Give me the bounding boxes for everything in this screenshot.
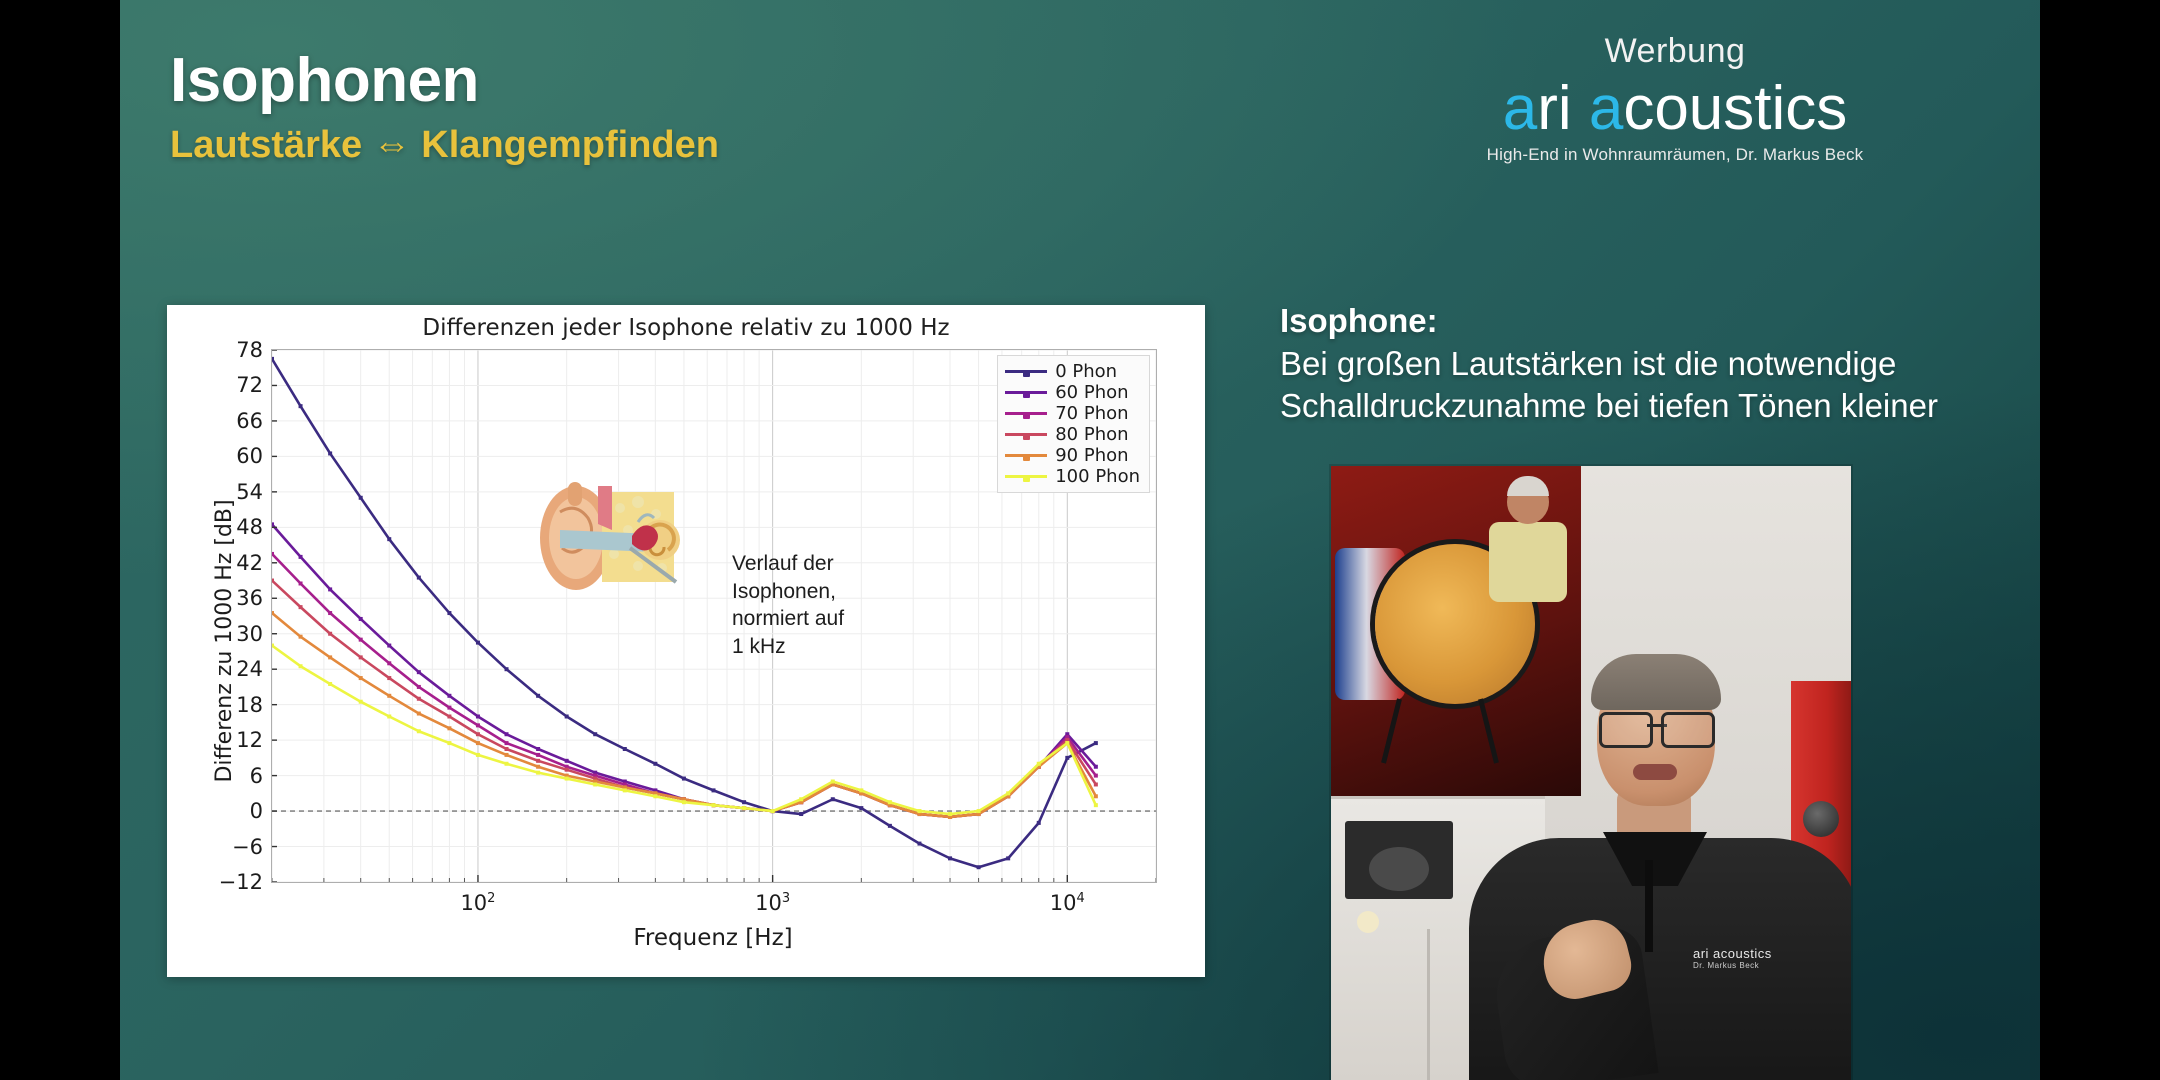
cabinet-seam bbox=[1427, 929, 1430, 1080]
chart-annotation: Verlauf derIsophonen,normiert auf1 kHz bbox=[732, 550, 844, 661]
chart-panel: Differenzen jeder Isophone relativ zu 10… bbox=[167, 305, 1205, 977]
drummer-body bbox=[1489, 522, 1567, 602]
presenter-hair bbox=[1591, 654, 1721, 710]
cabinet-speaker-panel bbox=[1345, 821, 1453, 899]
legend-item[interactable]: 0 Phon bbox=[1005, 361, 1140, 382]
chart-y-tick: 42 bbox=[236, 551, 263, 575]
brand-block: Werbung ari acoustics High-End in Wohnra… bbox=[1440, 32, 1910, 165]
logo-rest-2: coustics bbox=[1623, 74, 1847, 143]
shirt-logo-text: ari acoustics bbox=[1693, 946, 1772, 961]
chart-y-tick: 30 bbox=[236, 622, 263, 646]
annotation-line: Verlauf der bbox=[732, 550, 844, 578]
chart-y-tick: 0 bbox=[250, 799, 263, 823]
chart-title: Differenzen jeder Isophone relativ zu 10… bbox=[167, 315, 1205, 341]
legend-label: 90 Phon bbox=[1055, 445, 1128, 466]
brand-tagline: High-End in Wohnraumräumen, Dr. Markus B… bbox=[1440, 145, 1910, 165]
chart-y-tick: 36 bbox=[236, 586, 263, 610]
chart-y-tick: 24 bbox=[236, 657, 263, 681]
chart-y-tick: −12 bbox=[219, 870, 263, 894]
annotation-line: Isophonen, bbox=[732, 578, 844, 606]
legend-item[interactable]: 70 Phon bbox=[1005, 403, 1140, 424]
chart-legend: 0 Phon60 Phon70 Phon80 Phon90 Phon100 Ph… bbox=[997, 355, 1150, 493]
decor-ball bbox=[1357, 911, 1379, 933]
presenter-webcam[interactable]: ari acoustics Dr. Markus Beck bbox=[1331, 466, 1851, 1080]
chart-y-tick: 54 bbox=[236, 480, 263, 504]
legend-marker bbox=[1023, 412, 1030, 419]
annotation-line: 1 kHz bbox=[732, 633, 844, 661]
chart-x-tick: 103 bbox=[755, 891, 790, 915]
logo-rest-1: ri bbox=[1537, 74, 1589, 143]
presentation-slide: Isophonen Lautstärke ⇔ Klangempfinden We… bbox=[120, 0, 2040, 1080]
slide-stage: Isophonen Lautstärke ⇔ Klangempfinden We… bbox=[0, 0, 2160, 1080]
explanation-body: Bei großen Lautstärken ist die notwendig… bbox=[1280, 343, 2040, 427]
legend-label: 0 Phon bbox=[1055, 361, 1117, 382]
legend-label: 60 Phon bbox=[1055, 382, 1128, 403]
legend-swatch bbox=[1005, 370, 1047, 373]
glasses-right-lens bbox=[1661, 712, 1715, 748]
chart-plot-area: Verlauf derIsophonen,normiert auf1 kHz 0… bbox=[271, 349, 1157, 883]
legend-item[interactable]: 60 Phon bbox=[1005, 382, 1140, 403]
legend-item[interactable]: 80 Phon bbox=[1005, 424, 1140, 445]
title-block: Isophonen Lautstärke ⇔ Klangempfinden bbox=[170, 50, 719, 164]
legend-item[interactable]: 90 Phon bbox=[1005, 445, 1140, 466]
chart-y-tick: 60 bbox=[236, 444, 263, 468]
legend-marker bbox=[1023, 475, 1030, 482]
legend-swatch bbox=[1005, 454, 1047, 457]
speaker-cone bbox=[1369, 847, 1429, 891]
chart-y-tick: 66 bbox=[236, 409, 263, 433]
legend-marker bbox=[1023, 391, 1030, 398]
legend-swatch bbox=[1005, 475, 1047, 478]
chart-x-tick: 104 bbox=[1050, 891, 1085, 915]
legend-swatch bbox=[1005, 412, 1047, 415]
legend-item[interactable]: 100 Phon bbox=[1005, 466, 1140, 487]
chart-y-tick: 18 bbox=[236, 693, 263, 717]
page-subtitle: Lautstärke ⇔ Klangempfinden bbox=[170, 126, 719, 164]
legend-label: 100 Phon bbox=[1055, 466, 1140, 487]
page-title: Isophonen bbox=[170, 50, 719, 112]
chart-y-tick: 12 bbox=[236, 728, 263, 752]
shirt-logo-subtext: Dr. Markus Beck bbox=[1693, 961, 1772, 970]
legend-marker bbox=[1023, 370, 1030, 377]
presenter-glasses bbox=[1599, 712, 1715, 742]
chart-y-tick: 48 bbox=[236, 515, 263, 539]
explanation-block: Isophone: Bei großen Lautstärken ist die… bbox=[1280, 300, 2040, 428]
letterbox-right bbox=[2040, 0, 2160, 1080]
legend-label: 70 Phon bbox=[1055, 403, 1128, 424]
presenter-placket bbox=[1645, 860, 1653, 952]
ear-anatomy-illustration bbox=[534, 478, 684, 596]
letterbox-left bbox=[0, 0, 120, 1080]
annotation-line: normiert auf bbox=[732, 605, 844, 633]
presenter: ari acoustics Dr. Markus Beck bbox=[1479, 646, 1851, 1080]
chart-y-tick: −6 bbox=[232, 835, 263, 859]
legend-swatch bbox=[1005, 433, 1047, 436]
glasses-left-lens bbox=[1599, 712, 1653, 748]
logo-accent-a2: a bbox=[1589, 74, 1623, 143]
legend-label: 80 Phon bbox=[1055, 424, 1128, 445]
shirt-logo: ari acoustics Dr. Markus Beck bbox=[1693, 946, 1772, 970]
chart-x-tick: 102 bbox=[460, 891, 495, 915]
chart-y-tick: 6 bbox=[250, 764, 263, 788]
legend-marker bbox=[1023, 454, 1030, 461]
logo-accent-a1: a bbox=[1503, 74, 1537, 143]
poster-drummer bbox=[1487, 480, 1569, 600]
explanation-heading: Isophone: bbox=[1280, 300, 2040, 341]
chart-y-tick: 78 bbox=[236, 338, 263, 362]
chart-y-tick: 72 bbox=[236, 373, 263, 397]
legend-swatch bbox=[1005, 391, 1047, 394]
advertising-label: Werbung bbox=[1440, 32, 1910, 71]
chart-x-axis-label: Frequenz [Hz] bbox=[271, 925, 1155, 951]
brand-logo: ari acoustics bbox=[1440, 75, 1910, 143]
legend-marker bbox=[1023, 433, 1030, 440]
chart-y-axis-label: Differenz zu 1000 Hz [dB] bbox=[212, 499, 237, 782]
presenter-mouth bbox=[1633, 764, 1677, 780]
drummer-hair bbox=[1507, 476, 1549, 496]
